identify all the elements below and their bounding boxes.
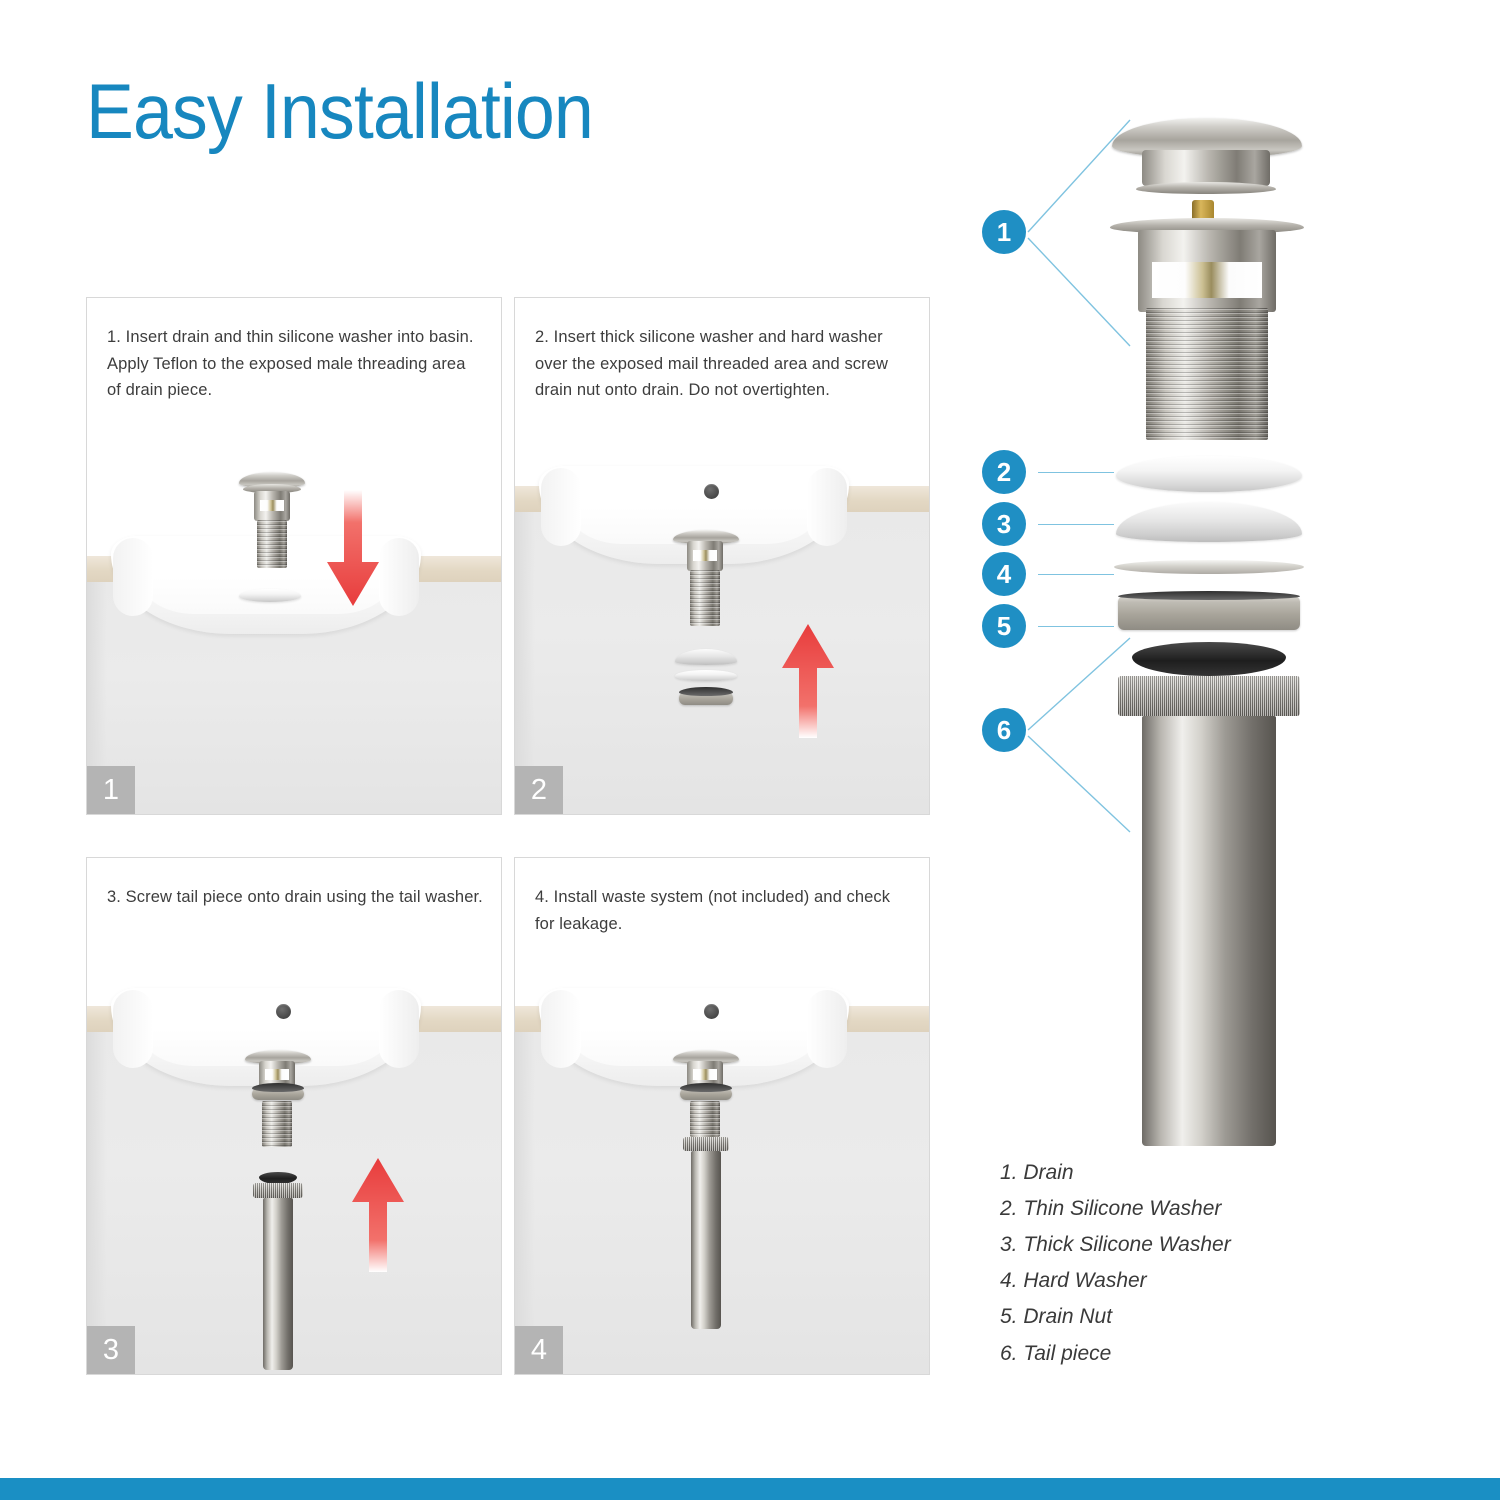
drain-threaded-barrel <box>690 570 720 626</box>
basin-left-lip <box>541 990 581 1068</box>
down-arrow-icon <box>324 490 382 608</box>
drain-nut <box>252 1088 304 1100</box>
step-number-badge-2: 2 <box>515 766 563 814</box>
drain-cap-skirt <box>1142 150 1270 186</box>
step-panel-4: 4. Install waste system (not included) a… <box>514 857 930 1375</box>
tail-piece-nut <box>1118 676 1300 716</box>
drain-overflow-slot <box>260 500 284 511</box>
step-panel-2: 2. Insert thick silicone washer and hard… <box>514 297 930 815</box>
tail-piece-tube <box>263 1198 293 1370</box>
callout-badge-1[interactable]: 1 <box>982 210 1026 254</box>
step-4-text: 4. Install waste system (not included) a… <box>535 884 911 937</box>
step-number-badge-3: 3 <box>87 1326 135 1374</box>
basin-right-lip <box>807 468 847 546</box>
tail-piece-tube <box>1142 716 1276 1146</box>
drain-nut <box>1118 596 1300 630</box>
step-panel-1: 1. Insert drain and thin silicone washer… <box>86 297 502 815</box>
footer-accent-bar <box>0 1478 1500 1500</box>
drain-threaded-barrel <box>1146 308 1268 440</box>
callout-3-leader-line <box>1038 524 1114 525</box>
callout-2-leader-line <box>1038 472 1114 473</box>
hard-washer <box>1114 560 1304 574</box>
page-title: Easy Installation <box>86 72 593 150</box>
drain-overflow-slot <box>265 1069 289 1080</box>
tail-washer <box>1132 642 1286 676</box>
drain-nut <box>679 692 733 705</box>
up-arrow-icon <box>779 622 837 740</box>
callout-badge-5[interactable]: 5 <box>982 604 1026 648</box>
legend-item-4: 4. Hard Washer <box>1000 1263 1420 1299</box>
step-number-badge-1: 1 <box>87 766 135 814</box>
callout-badge-4[interactable]: 4 <box>982 552 1026 596</box>
legend-item-6: 6. Tail piece <box>1000 1336 1420 1372</box>
callout-badge-3[interactable]: 3 <box>982 502 1026 546</box>
legend-item-5: 5. Drain Nut <box>1000 1299 1420 1335</box>
drain-threaded-barrel <box>257 520 287 568</box>
drain-overflow-slot <box>693 1069 717 1080</box>
legend-item-3: 3. Thick Silicone Washer <box>1000 1227 1420 1263</box>
basin-drain-seat <box>239 589 301 602</box>
callout-4-leader-line <box>1038 574 1114 575</box>
basin-left-lip <box>113 990 153 1068</box>
drain-overflow-slot <box>693 550 717 561</box>
overflow-hole <box>704 484 719 499</box>
drain-overflow-slot <box>1152 262 1262 298</box>
legend-item-1: 1. Drain <box>1000 1155 1420 1191</box>
step-2-illustration <box>515 444 929 814</box>
callout-badge-2[interactable]: 2 <box>982 450 1026 494</box>
legend-item-2: 2. Thin Silicone Washer <box>1000 1191 1420 1227</box>
step-1-illustration <box>87 444 501 814</box>
basin-left-lip <box>113 538 153 616</box>
callout-badge-6[interactable]: 6 <box>982 708 1026 752</box>
steps-grid: 1. Insert drain and thin silicone washer… <box>86 297 930 1379</box>
up-arrow-icon <box>349 1156 407 1274</box>
basin-left-lip <box>541 468 581 546</box>
tail-piece-nut <box>683 1137 729 1151</box>
thin-silicone-washer <box>1116 456 1302 492</box>
step-2-text: 2. Insert thick silicone washer and hard… <box>535 324 911 404</box>
tail-piece-nut <box>253 1183 303 1198</box>
callout-6-leader-lines <box>1026 632 1136 842</box>
parts-legend: 1. Drain 2. Thin Silicone Washer 3. Thic… <box>1000 1155 1420 1372</box>
step-1-text: 1. Insert drain and thin silicone washer… <box>107 324 483 404</box>
overflow-hole <box>276 1004 291 1019</box>
callout-1-leader-lines <box>1026 114 1136 354</box>
thick-silicone-washer <box>1116 502 1302 542</box>
drain-threaded-barrel <box>690 1101 720 1137</box>
callout-5-leader-line <box>1038 626 1114 627</box>
step-4-illustration <box>515 974 929 1374</box>
basin-right-lip <box>807 990 847 1068</box>
overflow-hole <box>704 1004 719 1019</box>
step-3-illustration <box>87 974 501 1374</box>
step-3-text: 3. Screw tail piece onto drain using the… <box>107 884 483 911</box>
thin-silicone-washer <box>675 670 737 681</box>
basin-right-lip <box>379 990 419 1068</box>
tail-piece-tube <box>691 1151 721 1329</box>
drain-threaded-barrel <box>262 1101 292 1147</box>
drain-nut <box>680 1088 732 1100</box>
basin-right-lip <box>379 538 419 616</box>
step-number-badge-4: 4 <box>515 1326 563 1374</box>
step-panel-3: 3. Screw tail piece onto drain using the… <box>86 857 502 1375</box>
drain-cap-base-ring <box>1136 182 1276 194</box>
installation-infographic: Easy Installation 1. Insert drain and th… <box>0 0 1500 1500</box>
